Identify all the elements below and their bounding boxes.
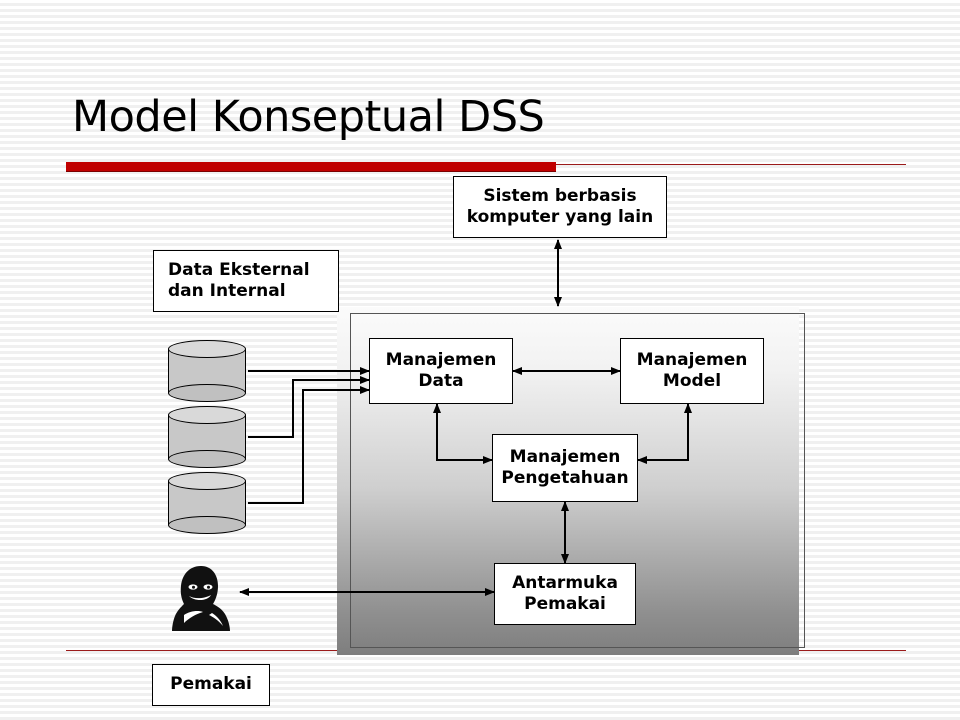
database-cylinder-icon <box>168 472 246 534</box>
box-external-systems[interactable]: Sistem berbasis komputer yang lain <box>453 176 667 238</box>
box-data-sources[interactable]: Data Eksternal dan Internal <box>153 250 339 312</box>
database-cylinder-icon <box>168 406 246 468</box>
box-user-interface[interactable]: Antarmuka Pemakai <box>494 563 636 625</box>
box-user-label[interactable]: Pemakai <box>152 664 270 706</box>
box-model-management[interactable]: Manajemen Model <box>620 338 764 404</box>
slide: Model Konseptual DSS <box>0 0 960 720</box>
title-rule-accent <box>66 162 556 172</box>
database-cylinder-icon <box>168 340 246 402</box>
page-title: Model Konseptual DSS <box>72 92 544 142</box>
box-data-management[interactable]: Manajemen Data <box>369 338 513 404</box>
user-portrait-icon <box>168 563 234 633</box>
box-knowledge-management[interactable]: Manajemen Pengetahuan <box>492 434 638 502</box>
